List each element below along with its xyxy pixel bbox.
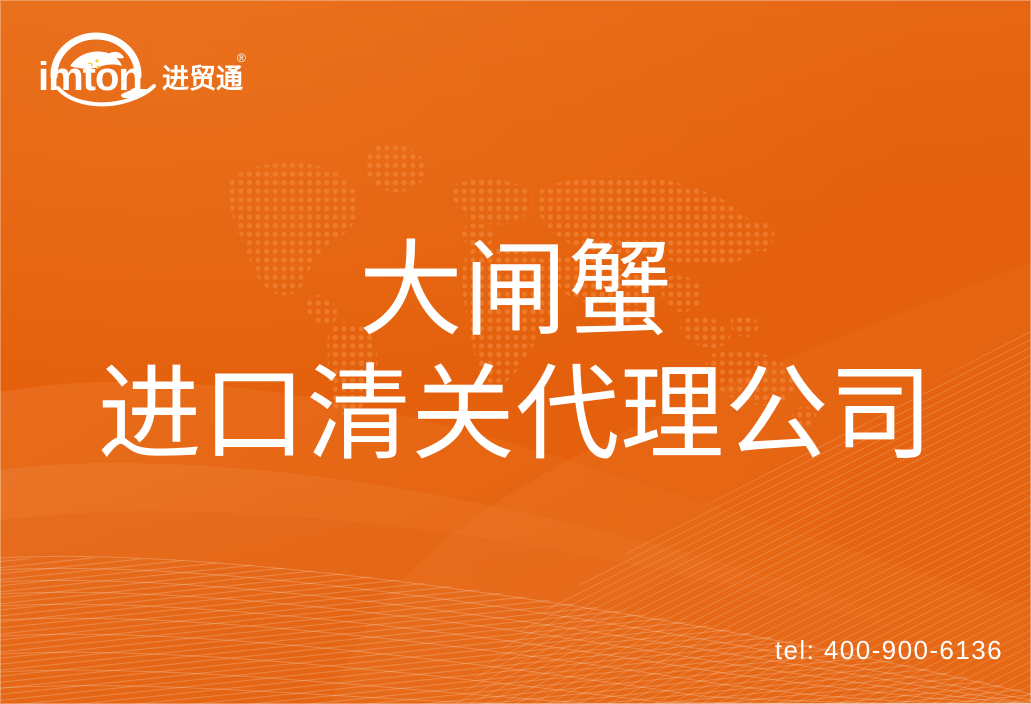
contact-phone[interactable]: tel: 400-900-6136 — [775, 635, 1003, 666]
logo-wordmark-latin: imton — [38, 55, 142, 99]
headline-line-1: 大闸蟹 — [0, 236, 1031, 346]
banner-canvas: imton 进贸通 ® 大闸蟹 进口清关代理公司 tel: 400-900-61… — [0, 0, 1031, 704]
registered-trademark-icon: ® — [237, 51, 246, 65]
headline-line-2: 进口清关代理公司 — [0, 360, 1031, 470]
headline-block: 大闸蟹 进口清关代理公司 — [0, 236, 1031, 470]
logo-wordmark-chinese: 进贸通 — [162, 64, 243, 95]
imton-logo[interactable]: imton 进贸通 ® — [34, 28, 249, 104]
